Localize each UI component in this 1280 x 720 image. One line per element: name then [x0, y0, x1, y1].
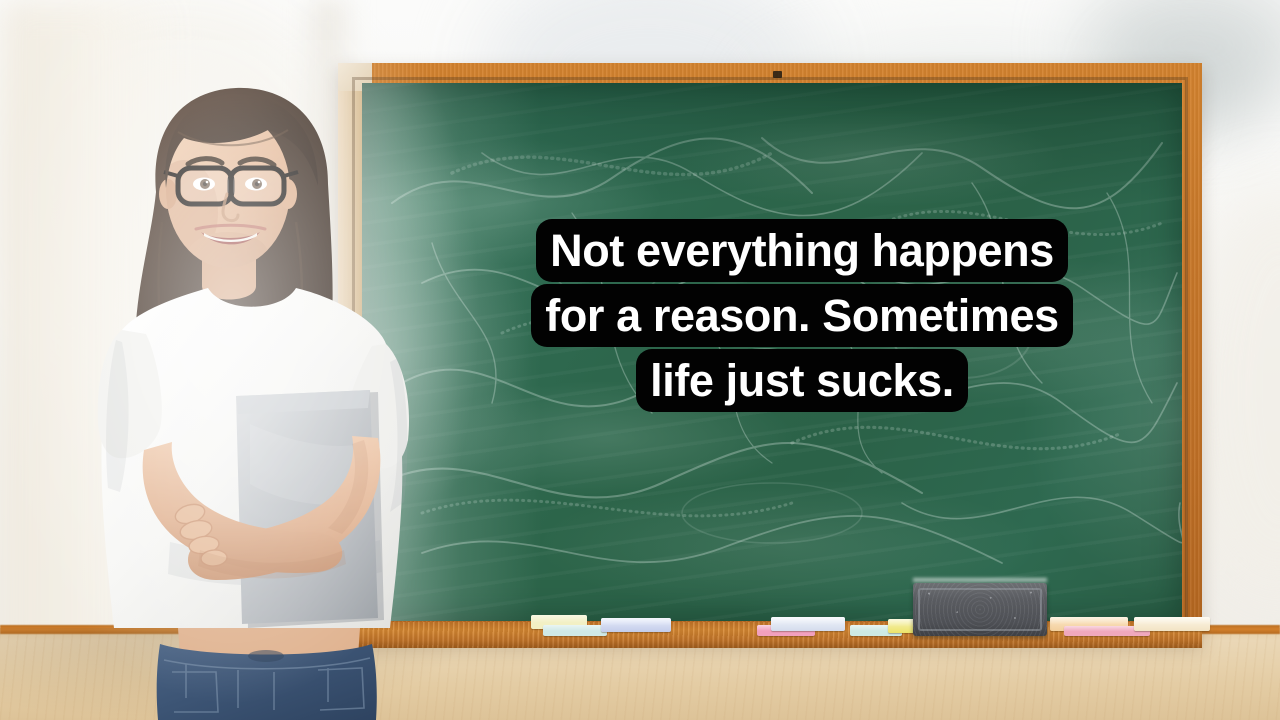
chalk-cream: [1134, 617, 1210, 631]
chalkboard-eraser: [913, 583, 1047, 636]
scene-root: Not everything happens for a reason. Som…: [0, 0, 1280, 720]
caption-line-2: for a reason. Sometimes: [498, 285, 1106, 346]
chalk-white-blue: [771, 617, 845, 631]
chalk-top-shade: [362, 83, 1182, 203]
frame-clip-icon: [773, 71, 782, 78]
quote-caption: Not everything happens for a reason. Som…: [498, 220, 1106, 411]
chalk-pale-cyan: [543, 625, 607, 636]
student-photo: [60, 72, 480, 720]
chalk-lavender: [601, 618, 671, 632]
caption-line-3: life just sucks.: [498, 350, 1106, 411]
caption-line-1: Not everything happens: [498, 220, 1106, 281]
